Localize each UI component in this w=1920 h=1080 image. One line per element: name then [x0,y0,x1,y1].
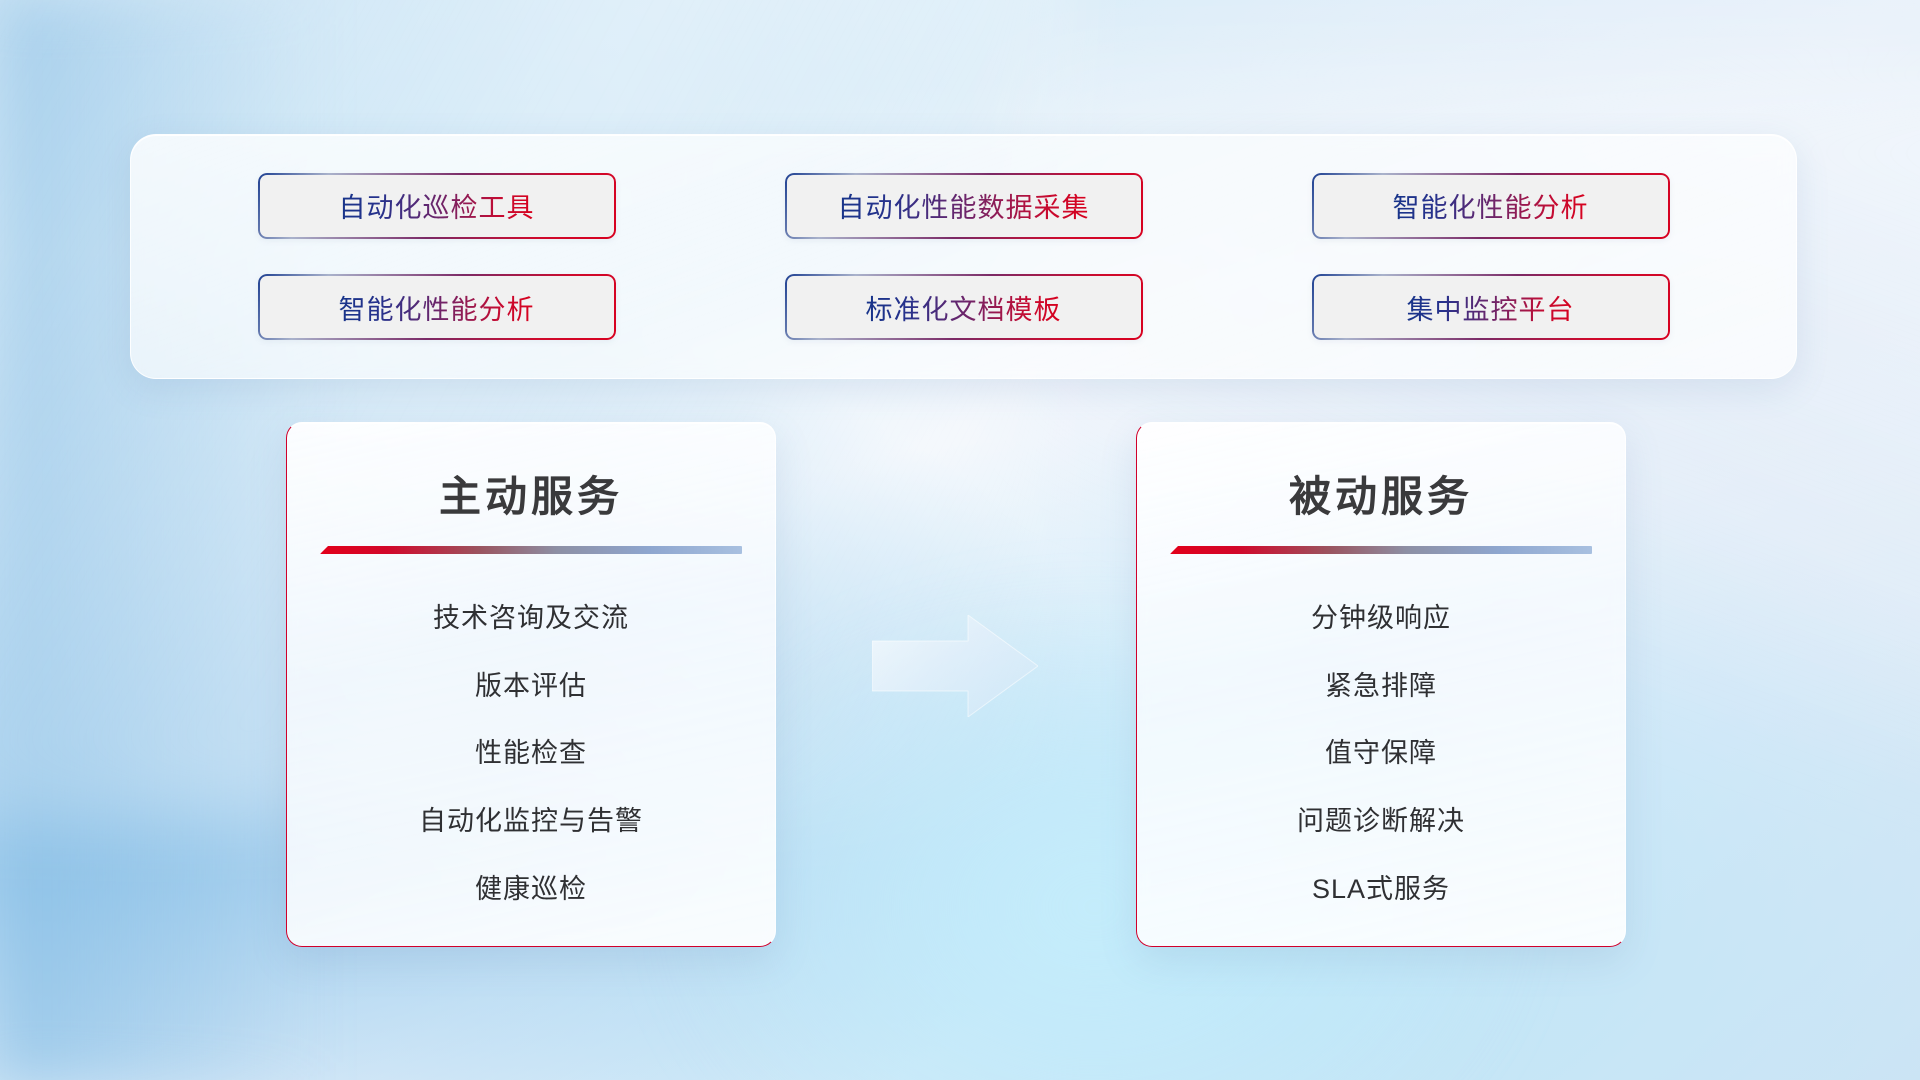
capability-pill-label: 集中监控平台 [1407,288,1575,327]
capability-pill-label: 智能化性能分析 [339,288,535,327]
capability-pill-3[interactable]: 智能化性能分析 [1312,173,1670,239]
card-divider [320,546,742,554]
capability-pill-4[interactable]: 智能化性能分析 [258,274,616,340]
service-item-list: 技术咨询及交流 版本评估 性能检查 自动化监控与告警 健康巡检 [321,582,741,920]
diagram-stage: 自动化巡检工具 自动化性能数据采集 智能化性能分析 智能化性能分析 标准化文档模… [0,0,1920,1080]
card-title: 被动服务 [1289,463,1473,524]
service-card-passive: 被动服务 分钟级响应 紧急排障 值守保障 问题诊断解决 SLA式服务 [1136,422,1626,947]
list-item: 性能检查 [321,717,741,785]
capability-pill-label: 智能化性能分析 [1393,186,1589,225]
capability-pill-label: 标准化文档模板 [866,288,1062,327]
list-item: 紧急排障 [1171,650,1591,718]
list-item: 健康巡检 [321,852,741,920]
list-item: 版本评估 [321,650,741,718]
capability-pill-6[interactable]: 集中监控平台 [1312,274,1670,340]
service-item-list: 分钟级响应 紧急排障 值守保障 问题诊断解决 SLA式服务 [1171,582,1591,920]
capability-pill-label: 自动化性能数据采集 [838,186,1090,225]
list-item: 分钟级响应 [1171,582,1591,650]
list-item: 值守保障 [1171,717,1591,785]
list-item: 技术咨询及交流 [321,582,741,650]
list-item: 问题诊断解决 [1171,785,1591,853]
capability-pill-1[interactable]: 自动化巡检工具 [258,173,616,239]
capability-pill-2[interactable]: 自动化性能数据采集 [785,173,1143,239]
card-divider [1170,546,1592,554]
arrow-right-icon [872,615,1038,717]
list-item: 自动化监控与告警 [321,785,741,853]
capability-pill-5[interactable]: 标准化文档模板 [785,274,1143,340]
service-card-active: 主动服务 技术咨询及交流 版本评估 性能检查 自动化监控与告警 健康巡检 [286,422,776,947]
card-title: 主动服务 [439,463,623,524]
capability-panel: 自动化巡检工具 自动化性能数据采集 智能化性能分析 智能化性能分析 标准化文档模… [130,134,1797,379]
list-item: SLA式服务 [1171,852,1591,920]
capability-pill-label: 自动化巡检工具 [339,186,535,225]
